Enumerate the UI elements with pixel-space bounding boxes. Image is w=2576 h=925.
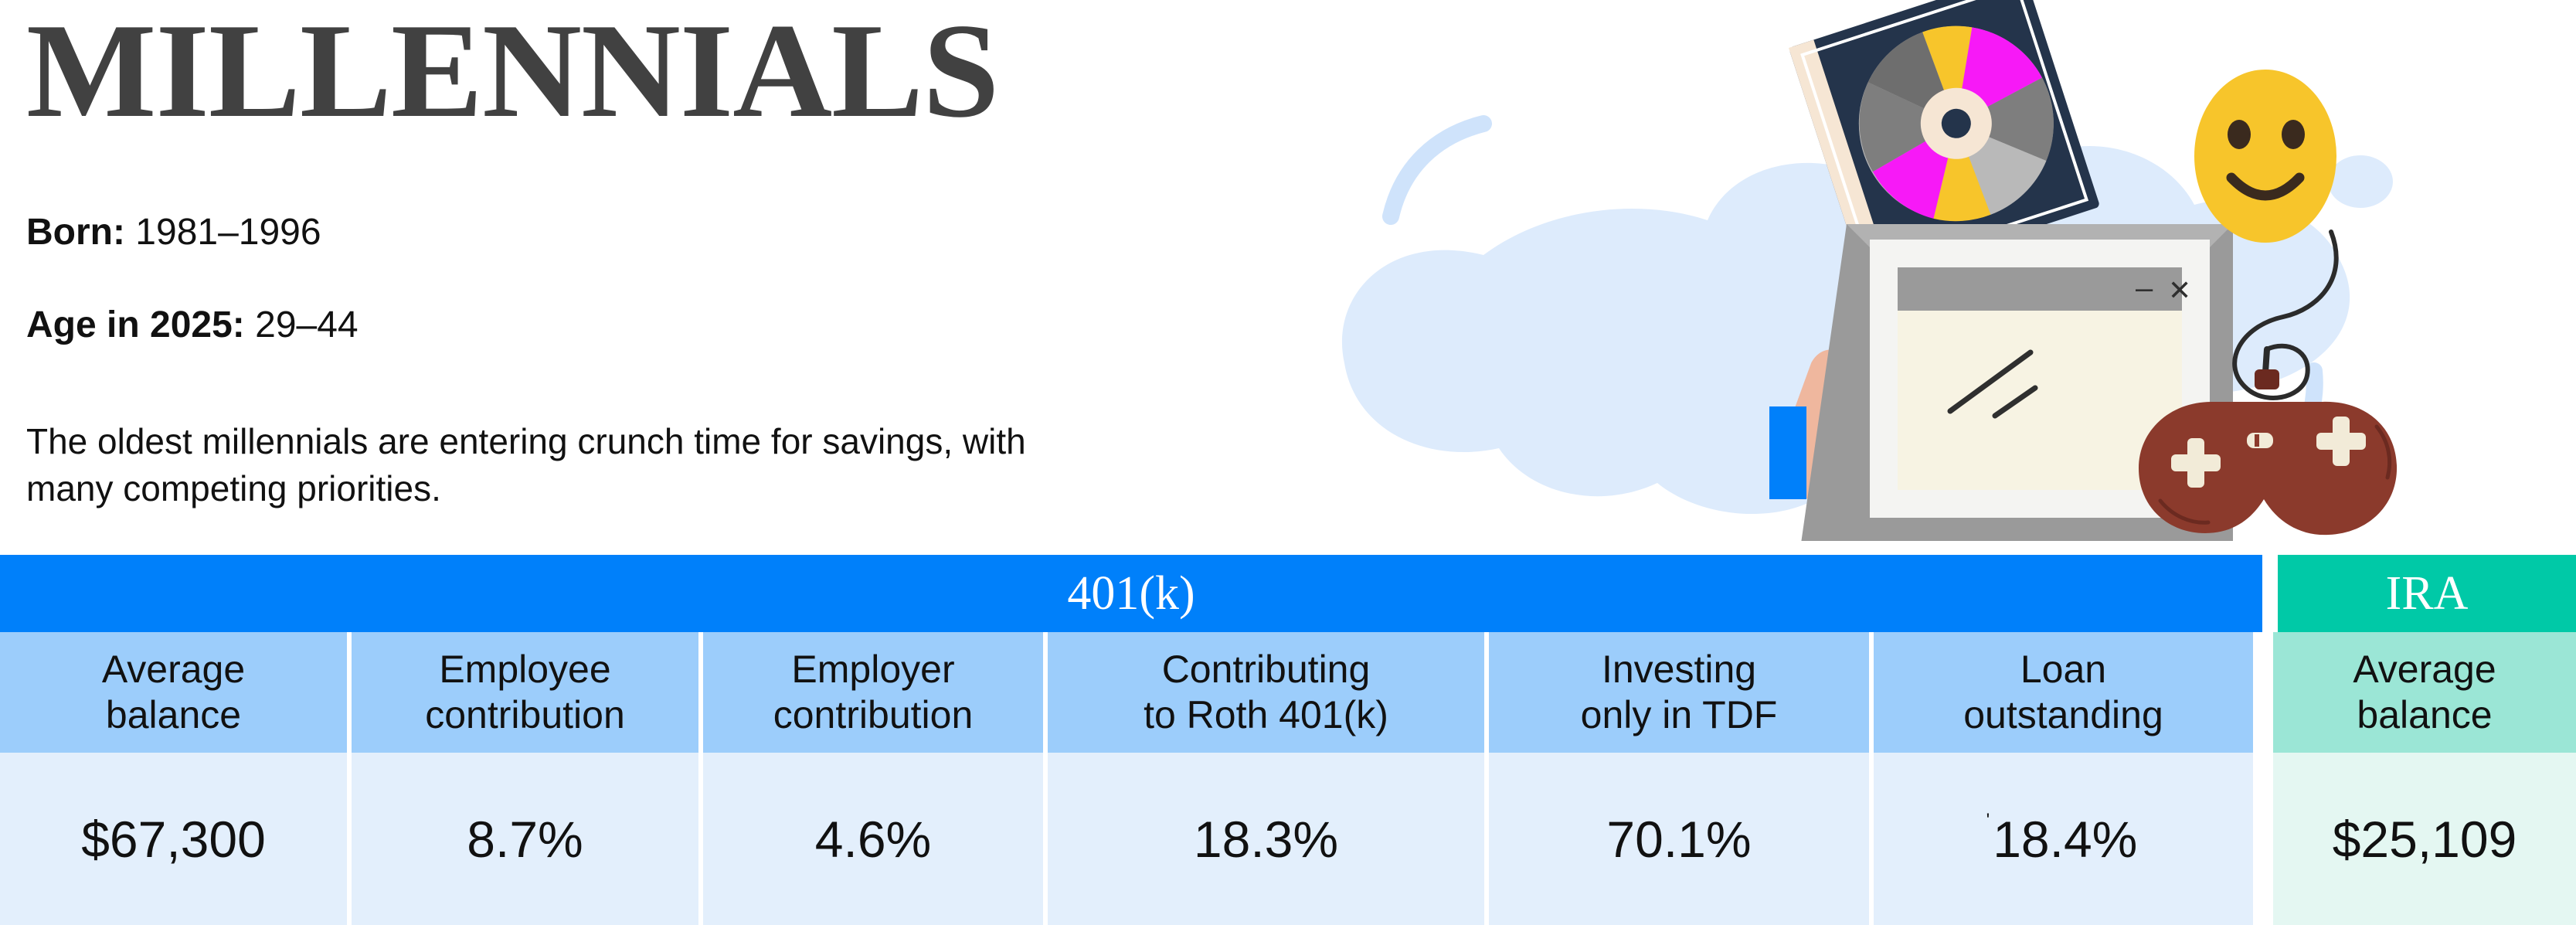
- group-header-401k: 401(k): [0, 555, 2262, 632]
- window-close-icon: ✕: [2168, 274, 2191, 306]
- header-line-2: to Roth 401(k): [1144, 693, 1388, 736]
- header-section: MILLENNIALS Born: 1981–1996 Age in 2025:…: [0, 0, 2576, 555]
- ira-value-gap: [2258, 753, 2268, 925]
- retirement-stats-table: 401(k) IRA Averagebalance Employeecontri…: [0, 555, 2576, 925]
- value-loan-outstanding-text: 18.4%: [1993, 810, 2137, 869]
- smiley-face-icon: [2194, 70, 2336, 243]
- table-value-row: $67,300 8.7% 4.6% 18.3% 70.1% '18.4% $25…: [0, 753, 2576, 925]
- value-employer-contribution: 4.6%: [703, 753, 1043, 925]
- header-line-1: Average: [2353, 648, 2496, 691]
- fact-age-label: Age in 2025:: [26, 304, 245, 345]
- header-line-2: only in TDF: [1581, 693, 1778, 736]
- column-header-employee-contribution: Employeecontribution: [352, 632, 698, 753]
- generation-text-block: MILLENNIALS: [26, 0, 1170, 134]
- table-group-header-row: 401(k) IRA: [0, 555, 2576, 632]
- generation-blurb: The oldest millennials are entering crun…: [26, 418, 1108, 512]
- header-line-1: Employer: [791, 648, 954, 691]
- fact-born-label: Born:: [26, 212, 125, 253]
- ira-column-gap: [2258, 632, 2268, 753]
- fact-age-value: 29–44: [245, 304, 359, 345]
- column-header-average-balance-401k: Averagebalance: [0, 632, 347, 753]
- value-average-balance-ira: $25,109: [2273, 753, 2576, 925]
- fact-born-value: 1981–1996: [125, 212, 321, 253]
- header-line-2: contribution: [773, 693, 974, 736]
- header-line-1: Contributing: [1162, 648, 1371, 691]
- header-line-1: Employee: [439, 648, 610, 691]
- column-header-contributing-roth-401k: Contributingto Roth 401(k): [1048, 632, 1484, 753]
- header-line-1: Loan: [2020, 648, 2106, 691]
- table-column-header-row: Averagebalance Employeecontribution Empl…: [0, 632, 2576, 753]
- column-header-employer-contribution: Employercontribution: [703, 632, 1043, 753]
- group-header-ira: IRA: [2278, 555, 2576, 632]
- header-line-2: contribution: [425, 693, 625, 736]
- fact-age: Age in 2025: 29–44: [26, 303, 359, 348]
- header-line-1: Investing: [1602, 648, 1756, 691]
- value-loan-outstanding: '18.4%: [1874, 753, 2253, 925]
- value-average-balance-401k: $67,300: [0, 753, 347, 925]
- value-employee-contribution: 8.7%: [352, 753, 698, 925]
- column-header-average-balance-ira: Averagebalance: [2273, 632, 2576, 753]
- value-investing-only-tdf: 70.1%: [1489, 753, 1869, 925]
- column-header-investing-only-tdf: Investingonly in TDF: [1489, 632, 1869, 753]
- fact-born: Born: 1981–1996: [26, 210, 321, 255]
- header-line-2: balance: [2357, 693, 2492, 736]
- page-title: MILLENNIALS: [26, 0, 1193, 134]
- window-minimize-icon: –: [2136, 271, 2153, 305]
- stray-tick-mark: ': [1986, 810, 1990, 831]
- header-line-1: Average: [102, 648, 245, 691]
- millennial-nostalgia-illustration: – ✕: [1236, 0, 2576, 541]
- column-header-loan-outstanding: Loanoutstanding: [1874, 632, 2253, 753]
- header-line-2: balance: [106, 693, 241, 736]
- header-line-2: outstanding: [1963, 693, 2163, 736]
- value-contributing-roth-401k: 18.3%: [1048, 753, 1484, 925]
